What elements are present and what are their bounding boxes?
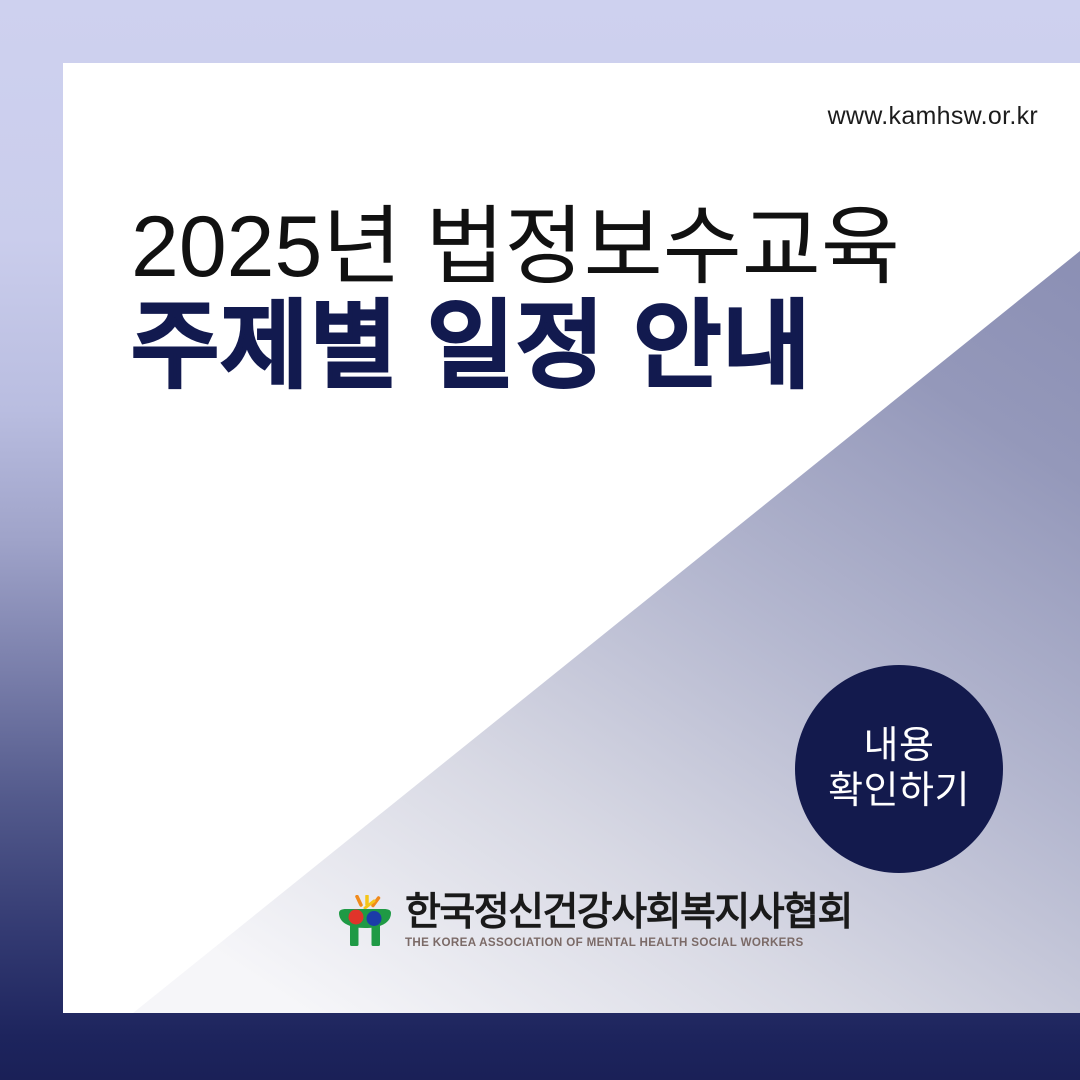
check-content-button[interactable]: 내용 확인하기 <box>795 665 1003 873</box>
headline-block: 2025년 법정보수교육 주제별 일정 안내 <box>131 203 1011 397</box>
organization-name-english: THE KOREA ASSOCIATION OF MENTAL HEALTH S… <box>405 937 852 949</box>
poster-canvas: www.kamhsw.or.kr 2025년 법정보수교육 주제별 일정 안내 … <box>0 0 1080 1080</box>
cta-label-line1: 내용 <box>864 724 935 769</box>
organization-logo: 한국정신건강사회복지사협회 THE KOREA ASSOCIATION OF M… <box>335 893 852 949</box>
poster-card: www.kamhsw.or.kr 2025년 법정보수교육 주제별 일정 안내 … <box>63 63 1080 1013</box>
association-emblem-icon <box>335 895 395 947</box>
page-title-primary: 2025년 법정보수교육 <box>131 203 1011 292</box>
logo-text-block: 한국정신건강사회복지사협회 THE KOREA ASSOCIATION OF M… <box>405 893 852 949</box>
cta-label-line2: 확인하기 <box>828 769 970 814</box>
website-url[interactable]: www.kamhsw.or.kr <box>828 102 1038 131</box>
organization-name-korean: 한국정신건강사회복지사협회 <box>405 893 852 932</box>
page-title-secondary: 주제별 일정 안내 <box>131 296 1011 398</box>
